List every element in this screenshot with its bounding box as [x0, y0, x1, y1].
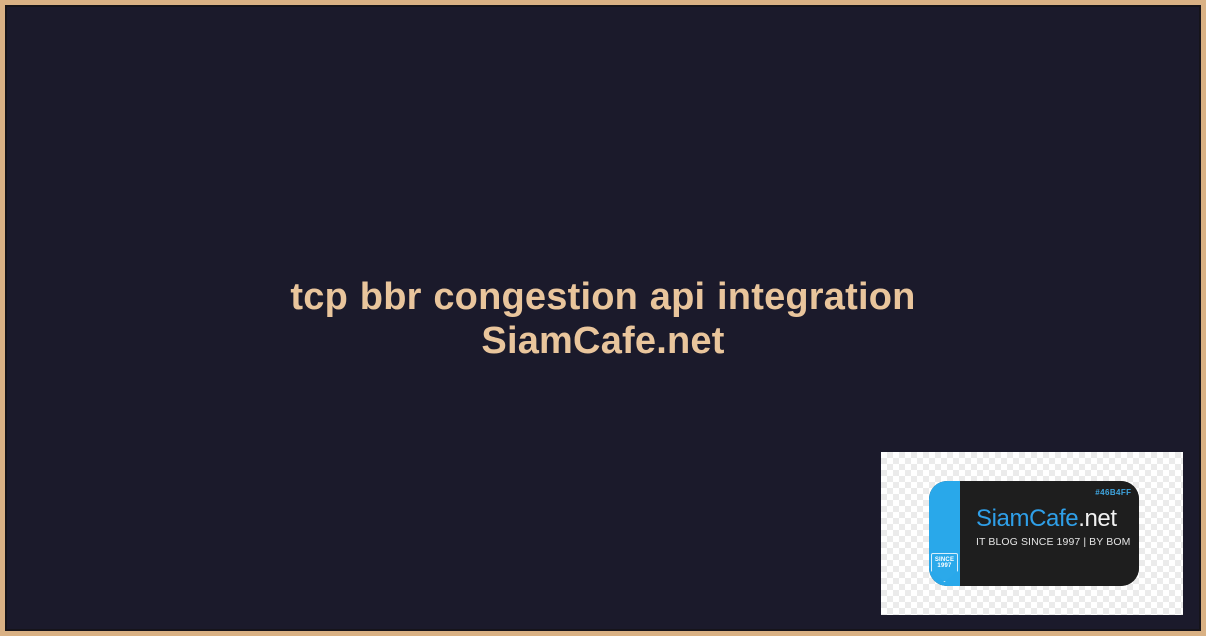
- logo-hex-code-label: #46B4FF: [1095, 488, 1131, 497]
- logo-image-card[interactable]: SINCE 1997 #46B4FF SiamCafe.net IT BLOG …: [881, 452, 1183, 615]
- logo-tagline: IT BLOG SINCE 1997 | BY BOM: [976, 536, 1130, 548]
- siamcafe-logo: SINCE 1997 #46B4FF SiamCafe.net IT BLOG …: [929, 481, 1139, 586]
- logo-accent-stripe: SINCE 1997: [929, 481, 960, 586]
- page-title-text: tcp bbr congestion api integration SiamC…: [223, 275, 983, 363]
- content-stage: tcp bbr congestion api integration SiamC…: [7, 7, 1199, 629]
- page-title-line-2: SiamCafe.net: [481, 320, 724, 362]
- logo-brand-name: SiamCafe: [976, 505, 1078, 532]
- page-title: tcp bbr congestion api integration SiamC…: [7, 275, 1199, 363]
- page-title-line-1: tcp bbr congestion api integration: [290, 276, 915, 318]
- since-1997-shield-icon: SINCE 1997: [931, 553, 958, 582]
- page-frame: tcp bbr congestion api integration SiamC…: [0, 0, 1206, 636]
- logo-brand-text: SiamCafe.net: [976, 505, 1130, 533]
- shield-label-year: 1997: [937, 563, 951, 569]
- page-frame-inset: tcp bbr congestion api integration SiamC…: [5, 5, 1201, 631]
- logo-brand-suffix: .net: [1078, 505, 1116, 532]
- logo-body: #46B4FF SiamCafe.net IT BLOG SINCE 1997 …: [960, 481, 1139, 586]
